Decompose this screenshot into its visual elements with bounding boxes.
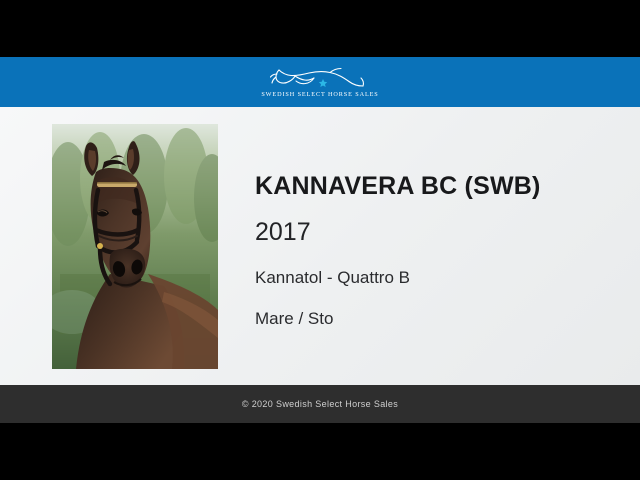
site-footer: © 2020 Swedish Select Horse Sales (0, 385, 640, 423)
horse-outline-logo-icon (264, 65, 376, 91)
site-header: Swedish Select Horse Sales (0, 57, 640, 107)
horse-portrait-photo (52, 124, 218, 369)
letterbox-bar-bottom (0, 423, 640, 480)
horse-info-block: KANNAVERA BC (SWB) 2017 Kannatol - Quatt… (255, 173, 625, 330)
horse-portrait-illustration (52, 124, 218, 369)
horse-birth-year: 2017 (255, 219, 625, 247)
star-accent-icon (319, 79, 327, 87)
letterbox-bar-top (0, 0, 640, 57)
horse-pedigree: Kannatol - Quattro B (255, 268, 625, 288)
brand-wordmark: Swedish Select Horse Sales (261, 92, 378, 98)
video-frame: Swedish Select Horse Sales (0, 0, 640, 480)
slide-content: KANNAVERA BC (SWB) 2017 Kannatol - Quatt… (0, 107, 640, 385)
horse-name: KANNAVERA BC (SWB) (255, 173, 625, 201)
copyright-text: © 2020 Swedish Select Horse Sales (242, 399, 398, 409)
brand-logo: Swedish Select Horse Sales (255, 65, 385, 98)
horse-sex: Mare / Sto (255, 309, 625, 329)
